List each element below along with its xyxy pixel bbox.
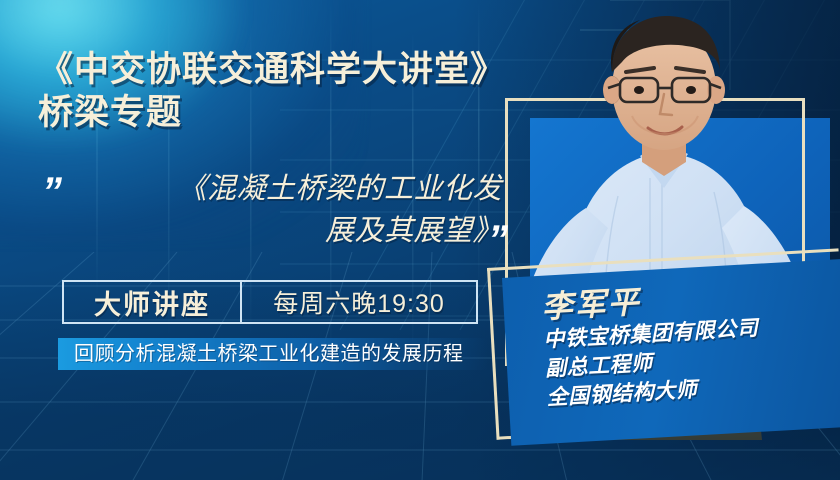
schedule-time: 每周六晚19:30 [242, 282, 476, 322]
quote-open-icon: ” [42, 172, 59, 212]
topic-text: 《混凝土桥梁的工业化发 展及其展望》 [84, 168, 502, 252]
page-title: 《中交协联交通科学大讲堂》 桥梁专题 [38, 48, 598, 134]
speaker-card: 李军平 中铁宝桥集团有限公司 副总工程师 全国钢结构大师 [502, 258, 840, 446]
topic-block: ” 《混凝土桥梁的工业化发 展及其展望》 ” [42, 168, 522, 268]
quote-close-icon: ” [488, 220, 505, 260]
description-text: 回顾分析混凝土桥梁工业化建造的发展历程 [74, 340, 494, 368]
schedule-box: 大师讲座 每周六晚19:30 [62, 280, 478, 324]
schedule-label: 大师讲座 [64, 282, 240, 322]
topic-line-1: 《混凝土桥梁的工业化发 [84, 168, 502, 210]
poster-canvas: 《中交协联交通科学大讲堂》 桥梁专题 ” 《混凝土桥梁的工业化发 展及其展望》 … [0, 0, 840, 480]
headline-line-1: 《中交协联交通科学大讲堂》 [38, 50, 506, 89]
topic-line-2: 展及其展望》 [84, 210, 502, 252]
headline-line-2: 桥梁专题 [38, 91, 598, 134]
